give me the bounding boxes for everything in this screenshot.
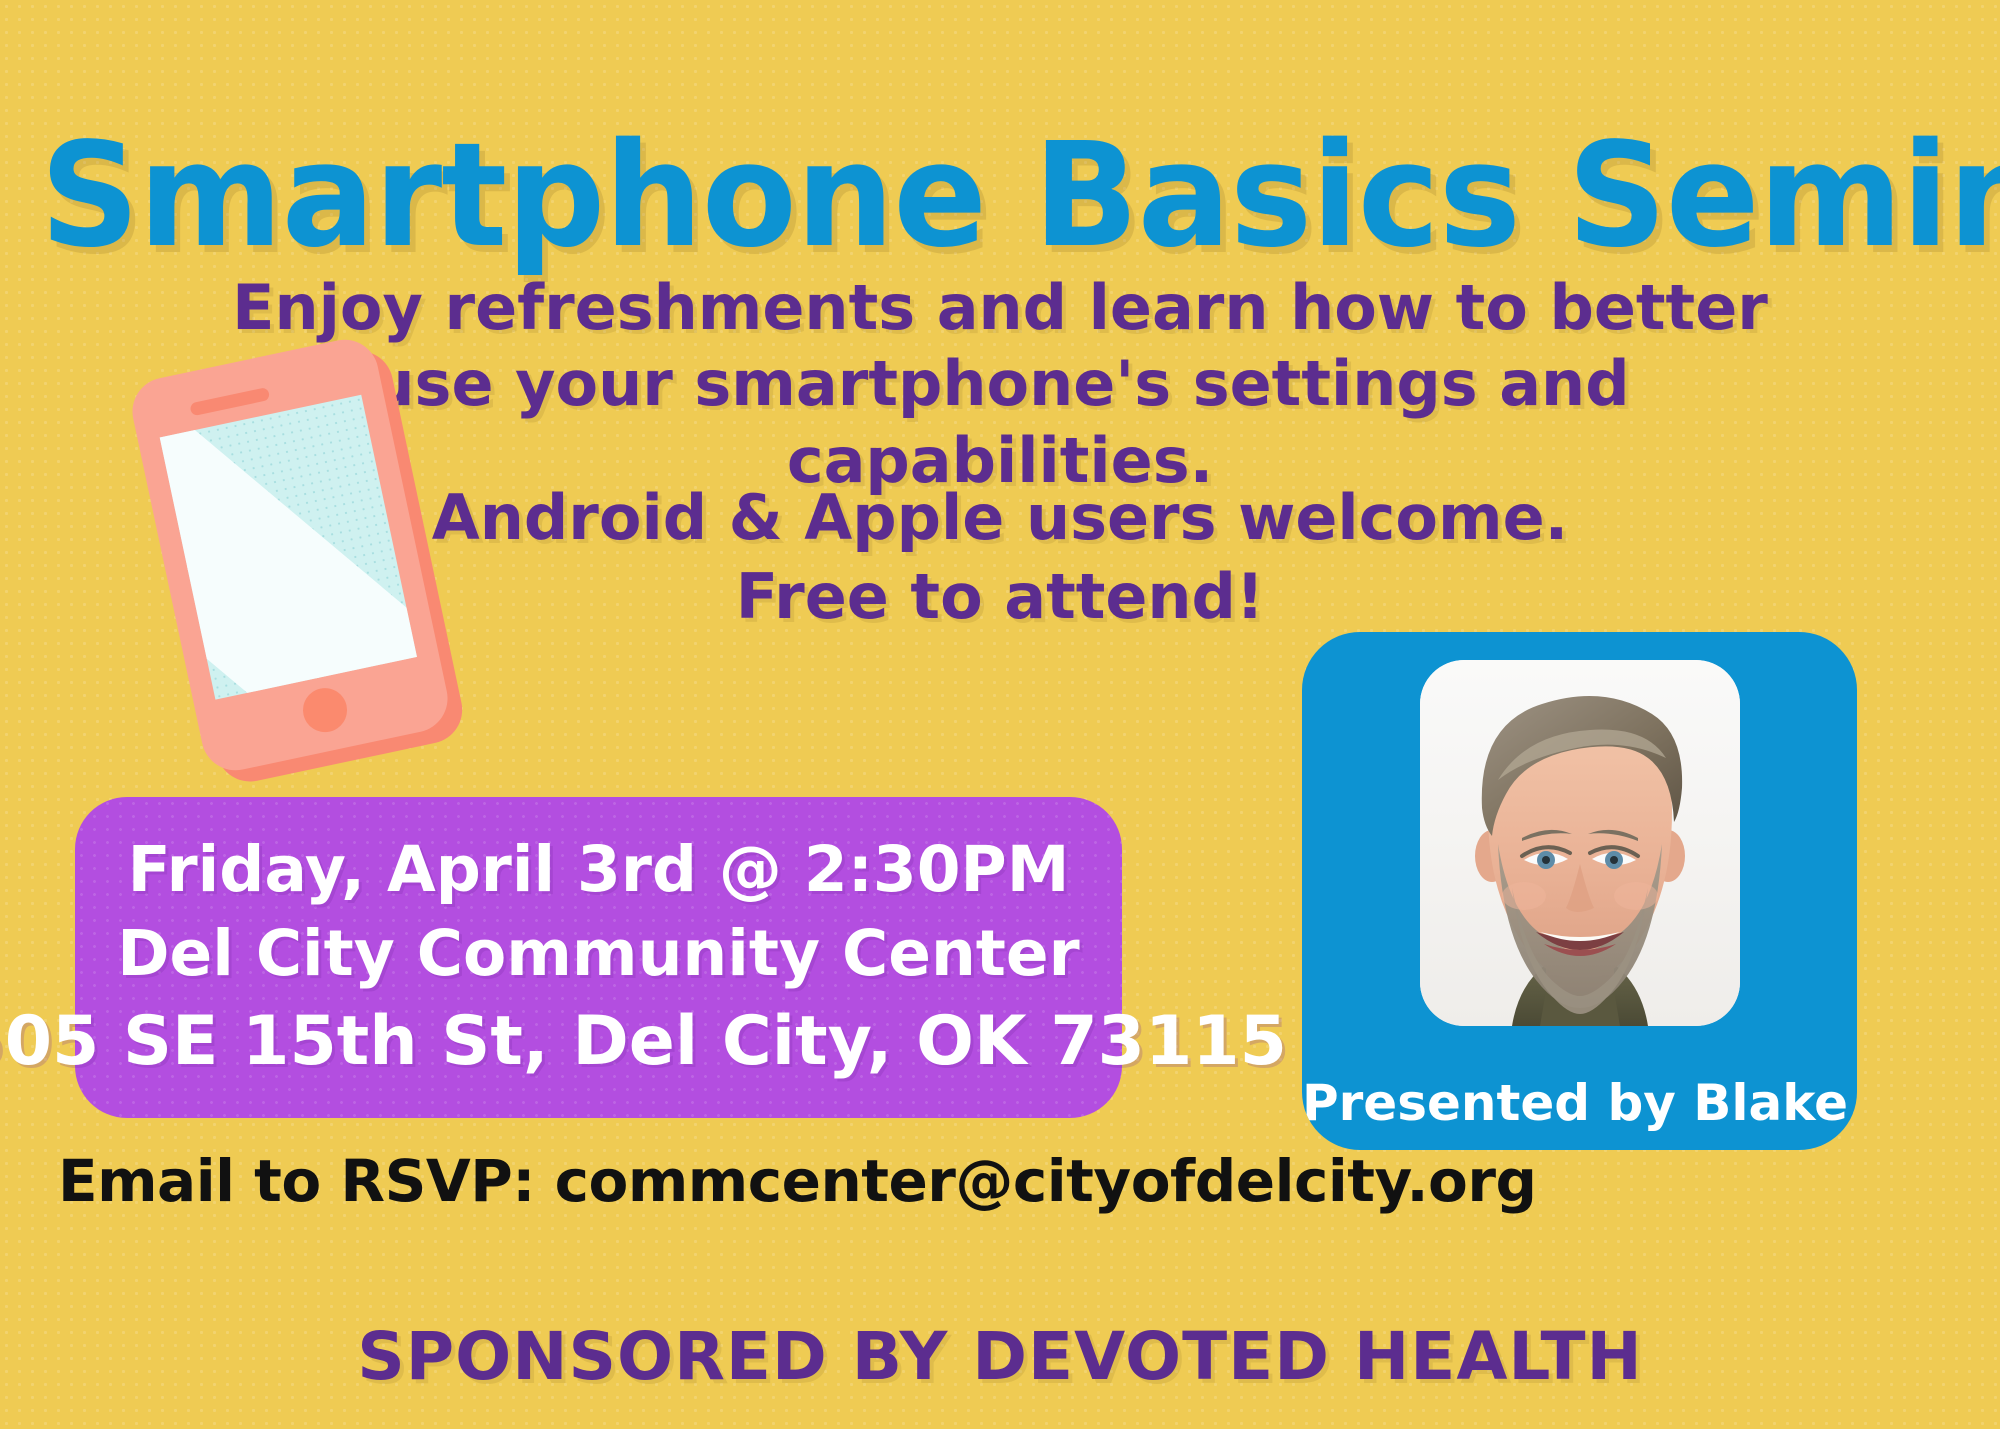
presenter-caption: Presented by Blake Dunn	[1302, 1074, 1857, 1132]
audience-note-line-1: Android & Apple users welcome.	[432, 481, 1568, 554]
presenter-photo	[1420, 660, 1740, 1026]
phone-home-button	[299, 684, 351, 736]
phone-speaker-slot	[189, 387, 270, 416]
phone-screen	[160, 395, 417, 700]
page-title: Smartphone Basics Seminar	[40, 118, 1960, 274]
event-details-box: Friday, April 3rd @ 2:30PM Del City Comm…	[75, 797, 1122, 1118]
event-address: 4505 SE 15th St, Del City, OK 73115	[0, 996, 1287, 1087]
rsvp-line: Email to RSVP: commcenter@cityofdelcity.…	[58, 1147, 1537, 1215]
sponsor-line: SPONSORED BY DEVOTED HEALTH	[0, 1318, 2000, 1395]
intro-paragraph: Enjoy refreshments and learn how to bett…	[190, 270, 1810, 499]
event-venue: Del City Community Center	[117, 912, 1079, 996]
flyer-poster: Smartphone Basics Seminar Enjoy refreshm…	[0, 0, 2000, 1429]
screen-glare-stripe-2	[160, 395, 417, 700]
event-datetime: Friday, April 3rd @ 2:30PM	[128, 828, 1070, 912]
presenter-card: Presented by Blake Dunn	[1302, 632, 1857, 1150]
